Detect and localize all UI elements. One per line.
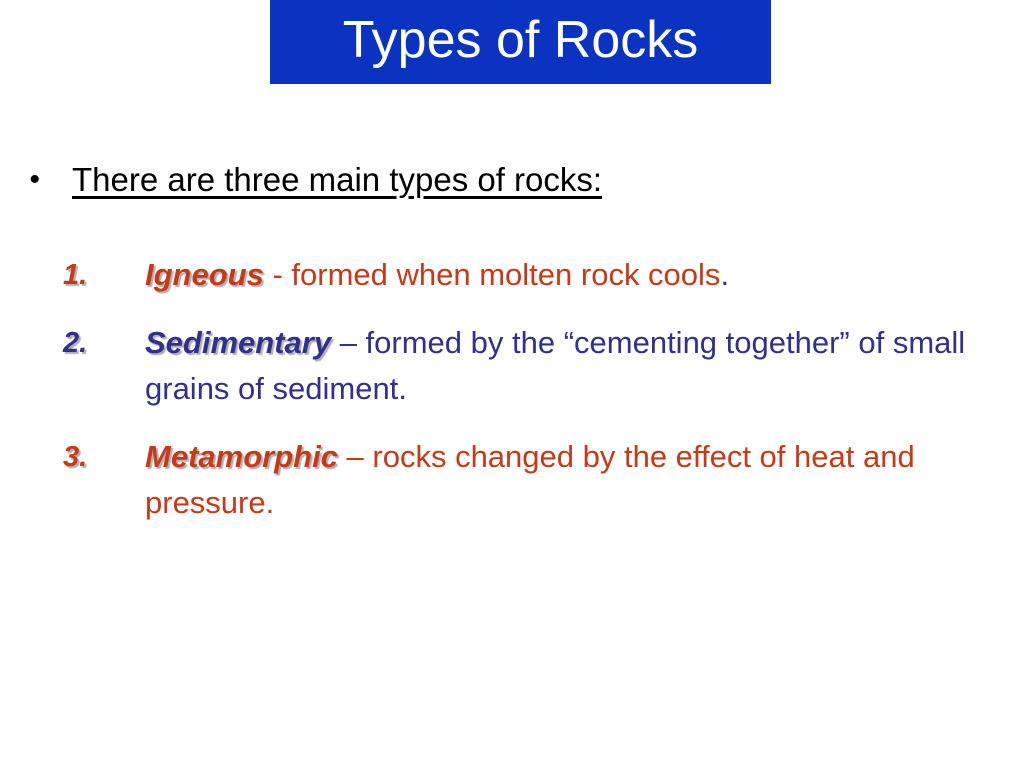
slide-title-banner: Types of Rocks — [270, 0, 771, 84]
rock-type-dash: – — [338, 439, 372, 474]
slide-canvas: Types of Rocks • There are three main ty… — [0, 0, 1024, 768]
list-item: 2. Sedimentary – formed by the “cementin… — [0, 320, 1024, 412]
list-item-number: 2. — [63, 320, 145, 366]
bullet-dot-icon: • — [0, 158, 44, 202]
main-bullet-text: There are three main types of rocks: — [72, 158, 602, 202]
list-item-number: 3. — [63, 434, 145, 480]
list-item-number: 1. — [63, 252, 145, 298]
list-item-body: Sedimentary – formed by the “cementing t… — [145, 320, 1024, 412]
rock-type-term: Sedimentary — [145, 325, 331, 360]
page-title: Types of Rocks — [343, 14, 698, 70]
rock-type-term: Igneous — [145, 257, 264, 292]
rock-type-dash: – — [331, 325, 365, 360]
list-item-body: Metamorphic – rocks changed by the effec… — [145, 434, 1024, 526]
list-item: 3. Metamorphic – rocks changed by the ef… — [0, 434, 1024, 526]
rock-type-terminator: . — [720, 257, 729, 292]
list-item-body: Igneous - formed when molten rock cools. — [145, 252, 1024, 298]
rock-type-description: formed when molten rock cools — [291, 257, 720, 292]
rock-types-list: 1. Igneous - formed when molten rock coo… — [0, 252, 1024, 548]
main-bullet-row: • There are three main types of rocks: — [0, 158, 1024, 202]
rock-type-dash: - — [264, 257, 292, 292]
rock-type-term: Metamorphic — [145, 439, 338, 474]
list-item: 1. Igneous - formed when molten rock coo… — [0, 252, 1024, 298]
